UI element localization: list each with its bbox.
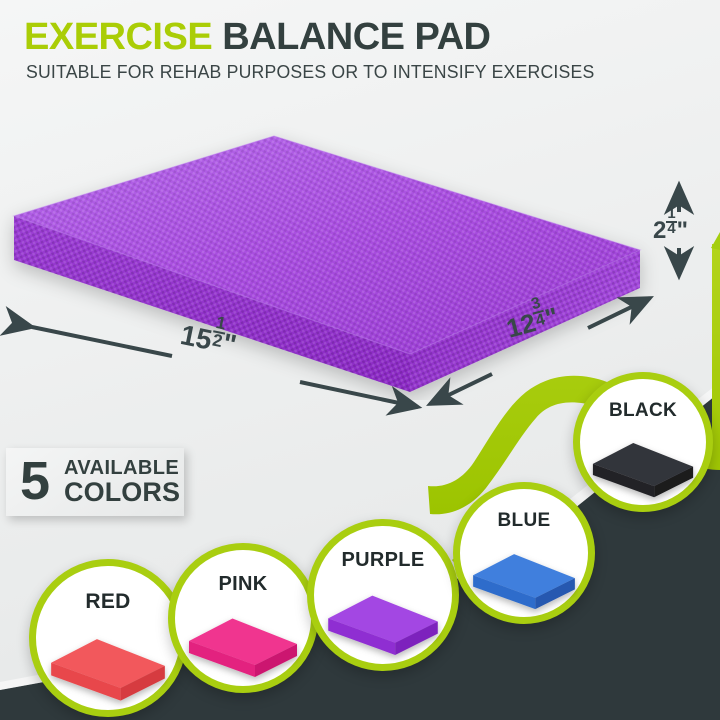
color-swatch-group: REDPINKPURPLEBLUEBLACK [0,0,720,720]
swatch-pad-red [48,631,168,704]
swatch-pad-pink [186,611,300,680]
swatch-label-blue: BLUE [460,510,588,532]
infographic-canvas: EXERCISE BALANCE PAD SUITABLE FOR REHAB … [0,0,720,720]
swatch-pad-blue [470,547,578,612]
color-swatch-purple[interactable]: PURPLE [307,519,459,671]
color-swatch-red[interactable]: RED [29,559,187,717]
color-swatch-black[interactable]: BLACK [573,372,713,512]
swatch-label-black: BLACK [580,400,706,422]
swatch-pad-purple [325,588,441,658]
swatch-label-purple: PURPLE [314,549,452,572]
swatch-pad-black [590,436,696,500]
swatch-label-red: RED [36,590,180,614]
swatch-label-pink: PINK [175,573,311,596]
color-swatch-blue[interactable]: BLUE [453,482,595,624]
color-swatch-pink[interactable]: PINK [168,543,318,693]
